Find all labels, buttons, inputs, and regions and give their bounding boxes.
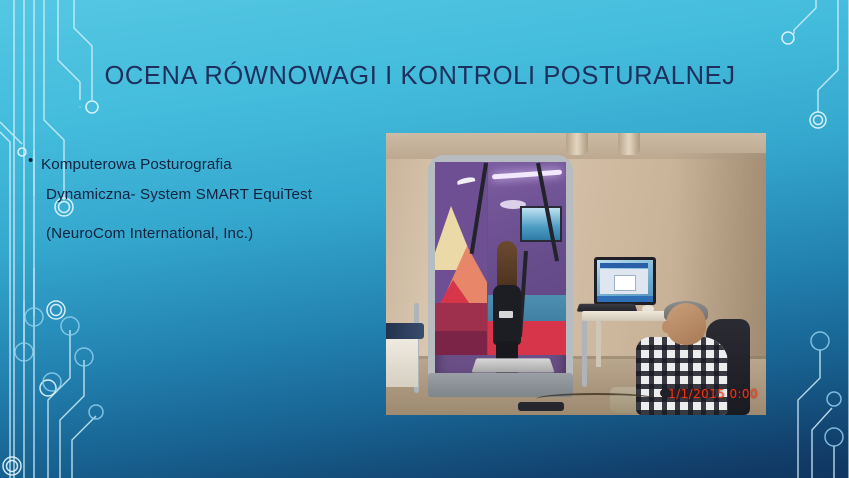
slide-title: OCENA RÓWNOWAGI I KONTROLI POSTURALNEJ	[60, 62, 780, 90]
windows-taskbar	[597, 296, 653, 302]
bullet-text-line-2: Dynamiczna- System SMART EquiTest	[41, 180, 378, 210]
booth-base-platform	[428, 373, 573, 397]
operator-desk-leg	[596, 321, 601, 367]
photo-ceiling-pipe	[566, 133, 588, 155]
operator-ear	[662, 321, 671, 333]
patient-sensor-tag	[499, 311, 513, 318]
software-input-field	[614, 275, 636, 291]
photo-ceiling-pipe	[618, 133, 640, 155]
monitor-bezel	[594, 257, 656, 305]
operator-head	[666, 303, 706, 345]
operator-plaid-shirt	[636, 337, 728, 415]
booth-light-strip	[492, 170, 562, 180]
floor-equipment-box	[518, 402, 564, 411]
photo-left-object	[386, 323, 424, 339]
posturography-photo: 1/1/2015 0:00	[386, 133, 766, 415]
software-title-bar	[600, 263, 648, 268]
bullet-text-line-1: Komputerowa Posturografia	[41, 150, 232, 180]
mural-base-purple	[435, 331, 487, 355]
bullet-list-item: • Komputerowa Posturografia	[28, 150, 378, 180]
photo-left-cabinet	[386, 339, 418, 387]
bullet-text-line-3: (NeuroCom International, Inc.)	[41, 219, 378, 249]
plaid-pattern	[636, 337, 728, 415]
photo-timestamp: 1/1/2015 0:00	[668, 387, 758, 401]
equitest-booth	[428, 155, 573, 387]
monitor-screen	[597, 260, 653, 302]
mural-bird	[457, 176, 476, 185]
operator-monitor	[594, 257, 656, 305]
booth-display-screen	[520, 206, 562, 242]
presentation-slide: OCENA RÓWNOWAGI I KONTROLI POSTURALNEJ •…	[0, 0, 849, 478]
slide-body-text: • Komputerowa Posturografia Dynamiczna- …	[28, 150, 378, 249]
bullet-point-icon: •	[28, 150, 41, 172]
software-window-body	[600, 269, 648, 294]
force-plate	[471, 358, 554, 372]
